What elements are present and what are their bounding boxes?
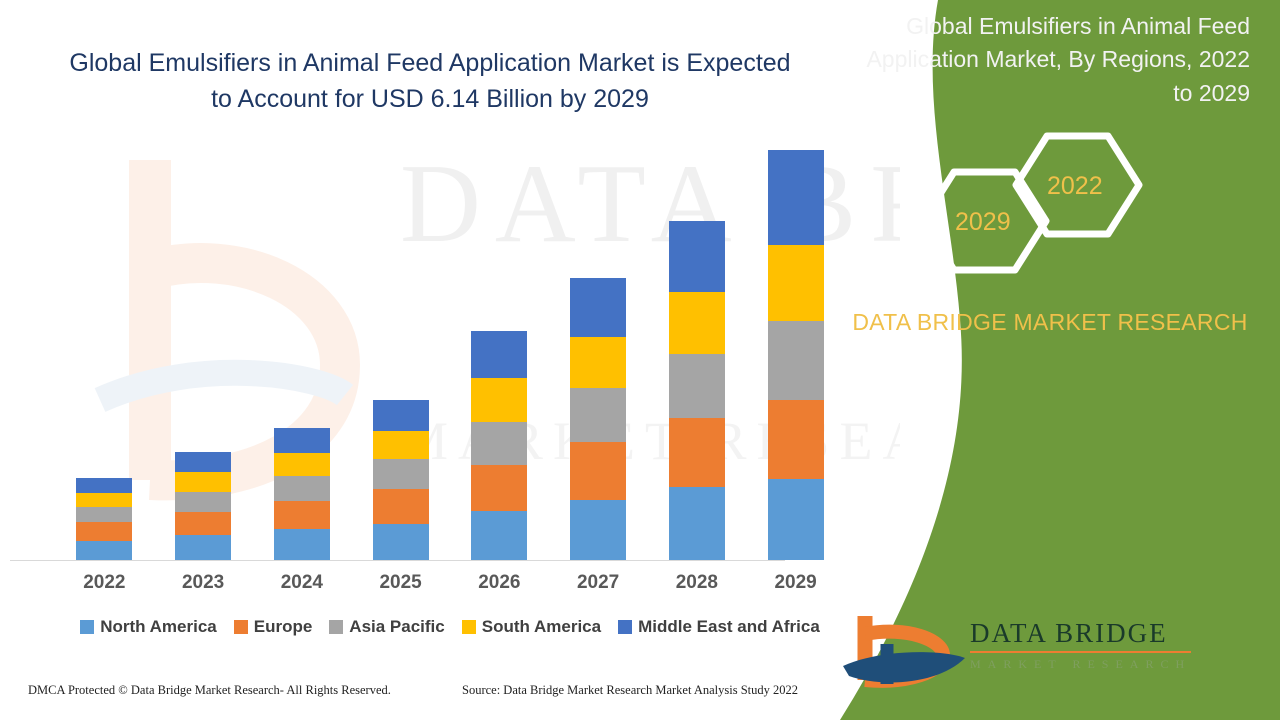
x-axis-tick-label: 2028 [662,572,732,594]
bar-segment [768,150,824,245]
bar-stack [471,331,527,560]
bar-segment [570,337,626,388]
x-axis-tick-labels: 20222023202420252026202720282029 [55,568,845,598]
bar-segment [76,507,132,522]
bar-segment [373,431,429,459]
x-axis-tick-label: 2027 [563,572,633,594]
chart-panel: DATA BRIDGE MARKET RESEARCH Global Emuls… [0,0,900,720]
bar-segment [76,541,132,560]
legend-label: Europe [254,617,313,637]
bar-column [168,150,238,560]
bar-segment [373,524,429,560]
brand-name: DATA BRIDGE MARKET RESEARCH [840,305,1260,340]
bar-column [267,150,337,560]
bar-segment [175,492,231,512]
bar-column [563,150,633,560]
bar-segment [274,453,330,476]
bar-segment [373,400,429,431]
bar-segment [471,331,527,378]
legend-swatch [80,620,94,634]
legend-item[interactable]: Europe [234,617,313,637]
legend-label: Asia Pacific [349,617,444,637]
bar-column [662,150,732,560]
legend-label: Middle East and Africa [638,617,820,637]
bar-segment [471,378,527,423]
hexagon-2022-label: 2022 [1047,172,1103,201]
bar-stack [570,278,626,560]
legend-swatch [234,620,248,634]
bar-segment [471,511,527,560]
source-text: Source: Data Bridge Market Research Mark… [462,683,798,698]
panel-title: Global Emulsifiers in Animal Feed Applic… [860,10,1250,110]
x-axis-tick-label: 2026 [464,572,534,594]
legend-item[interactable]: Asia Pacific [329,617,444,637]
bar-stack [669,221,725,560]
bar-segment [768,321,824,400]
bar-stack [175,452,231,560]
branding-panel: Global Emulsifiers in Animal Feed Applic… [820,0,1280,720]
bar-segment [570,500,626,560]
bar-segment [76,522,132,541]
bar-column [464,150,534,560]
legend-label: South America [482,617,601,637]
bar-segment [76,493,132,508]
logo-main-text: DATA BRIDGE [970,618,1191,653]
legend-swatch [329,620,343,634]
bar-segment [274,501,330,530]
copyright-text: DMCA Protected © Data Bridge Market Rese… [28,683,391,698]
bar-segment [471,422,527,465]
bar-segment [175,535,231,560]
chart-plot-area [55,150,845,560]
logo-wordmark: DATA BRIDGE MARKET RESEARCH [970,618,1191,672]
bar-segment [570,278,626,337]
bar-segment [274,428,330,453]
bar-column [366,150,436,560]
stacked-bar-chart [55,150,845,560]
x-axis-tick-label: 2022 [69,572,139,594]
page-title: Global Emulsifiers in Animal Feed Applic… [60,45,800,118]
bar-segment [76,478,132,493]
bar-segment [274,476,330,501]
bar-segment [768,479,824,560]
bar-segment [669,487,725,560]
bar-segment [373,489,429,524]
logo-sub-text: MARKET RESEARCH [970,657,1191,672]
bar-segment [175,452,231,472]
bar-segment [175,512,231,535]
x-axis-tick-label: 2024 [267,572,337,594]
legend-swatch [618,620,632,634]
legend-item[interactable]: South America [462,617,601,637]
bar-stack [76,478,132,560]
bar-stack [373,400,429,560]
x-axis-tick-label: 2023 [168,572,238,594]
legend-swatch [462,620,476,634]
bar-segment [373,459,429,489]
hexagon-icons [912,130,1232,280]
bar-stack [768,150,824,560]
legend-label: North America [100,617,217,637]
bar-column [69,150,139,560]
bar-segment [570,388,626,443]
bar-segment [669,292,725,354]
bar-segment [669,418,725,486]
bar-segment [570,442,626,499]
bar-segment [669,221,725,292]
bar-segment [768,245,824,321]
bar-stack [274,428,330,560]
x-axis-line [10,560,785,561]
bar-segment [274,529,330,560]
legend-item[interactable]: Middle East and Africa [618,617,820,637]
bar-segment [669,354,725,419]
x-axis-tick-label: 2025 [366,572,436,594]
hexagon-2029-label: 2029 [955,208,1011,237]
hexagon-group: 2022 2029 [912,130,1232,280]
bar-segment [768,400,824,479]
chart-legend: North AmericaEuropeAsia PacificSouth Ame… [55,612,845,642]
legend-item[interactable]: North America [80,617,217,637]
bar-segment [175,472,231,492]
bar-segment [471,465,527,510]
